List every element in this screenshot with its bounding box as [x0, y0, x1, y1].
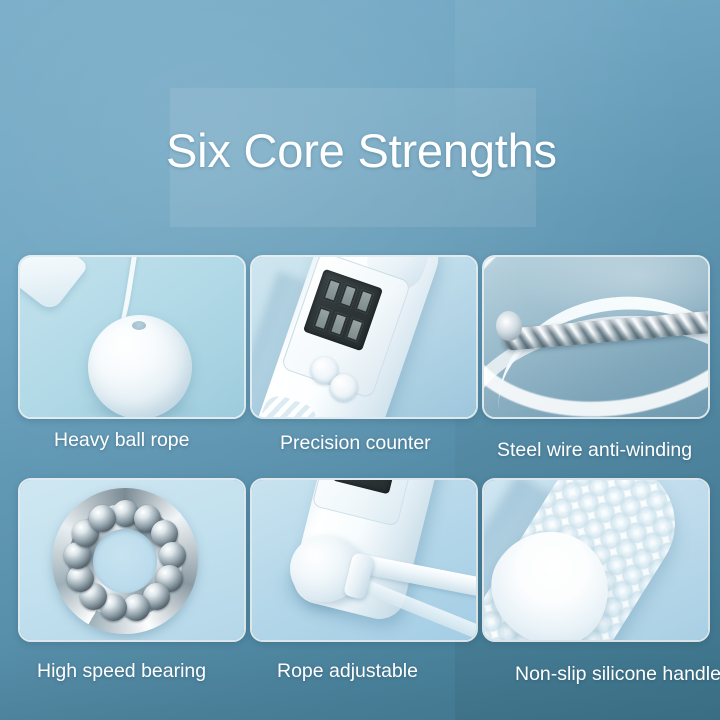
lcd-digit	[345, 317, 364, 342]
bearing-ball	[89, 505, 116, 532]
ball-cord-hole	[132, 321, 146, 330]
rope-adjustable-image	[252, 480, 476, 640]
product-feature-poster: Six Core Strengths Heavy ball rope	[0, 0, 720, 720]
steel-wire-image	[484, 257, 708, 417]
feature-tile-steel-wire	[482, 255, 710, 419]
bearing-ball	[123, 594, 150, 621]
feature-tile-heavy-ball-rope	[18, 255, 246, 419]
precision-counter-image	[252, 257, 476, 417]
bearing-bore	[93, 529, 157, 593]
feature-tile-precision-counter	[250, 255, 478, 419]
scene-gloss	[484, 257, 708, 417]
feature-tile-high-speed-bearing	[18, 478, 246, 642]
heavy-ball-rope-image	[20, 257, 244, 417]
handle-corner-detail	[20, 257, 89, 313]
caption-high-speed-bearing: High speed bearing	[37, 659, 206, 683]
lcd-digit	[322, 278, 341, 303]
feature-tile-silicone-handle	[482, 478, 710, 642]
lcd-digit	[354, 289, 373, 314]
page-title: Six Core Strengths	[166, 122, 606, 180]
lcd-digit	[328, 311, 347, 336]
caption-heavy-ball-rope: Heavy ball rope	[54, 428, 190, 452]
feature-tile-rope-adjustable	[250, 478, 478, 642]
caption-rope-adjustable: Rope adjustable	[277, 659, 418, 683]
silicone-handle-image	[484, 480, 708, 640]
lcd-digit	[312, 306, 331, 331]
caption-steel-wire: Steel wire anti-winding	[497, 438, 692, 462]
weighted-ball	[88, 315, 192, 417]
caption-silicone-handle: Non-slip silicone handle	[515, 662, 720, 686]
counter-button-reset	[330, 374, 357, 401]
high-speed-bearing-image	[20, 480, 244, 640]
caption-precision-counter: Precision counter	[280, 431, 431, 455]
lcd-digit	[338, 284, 357, 309]
